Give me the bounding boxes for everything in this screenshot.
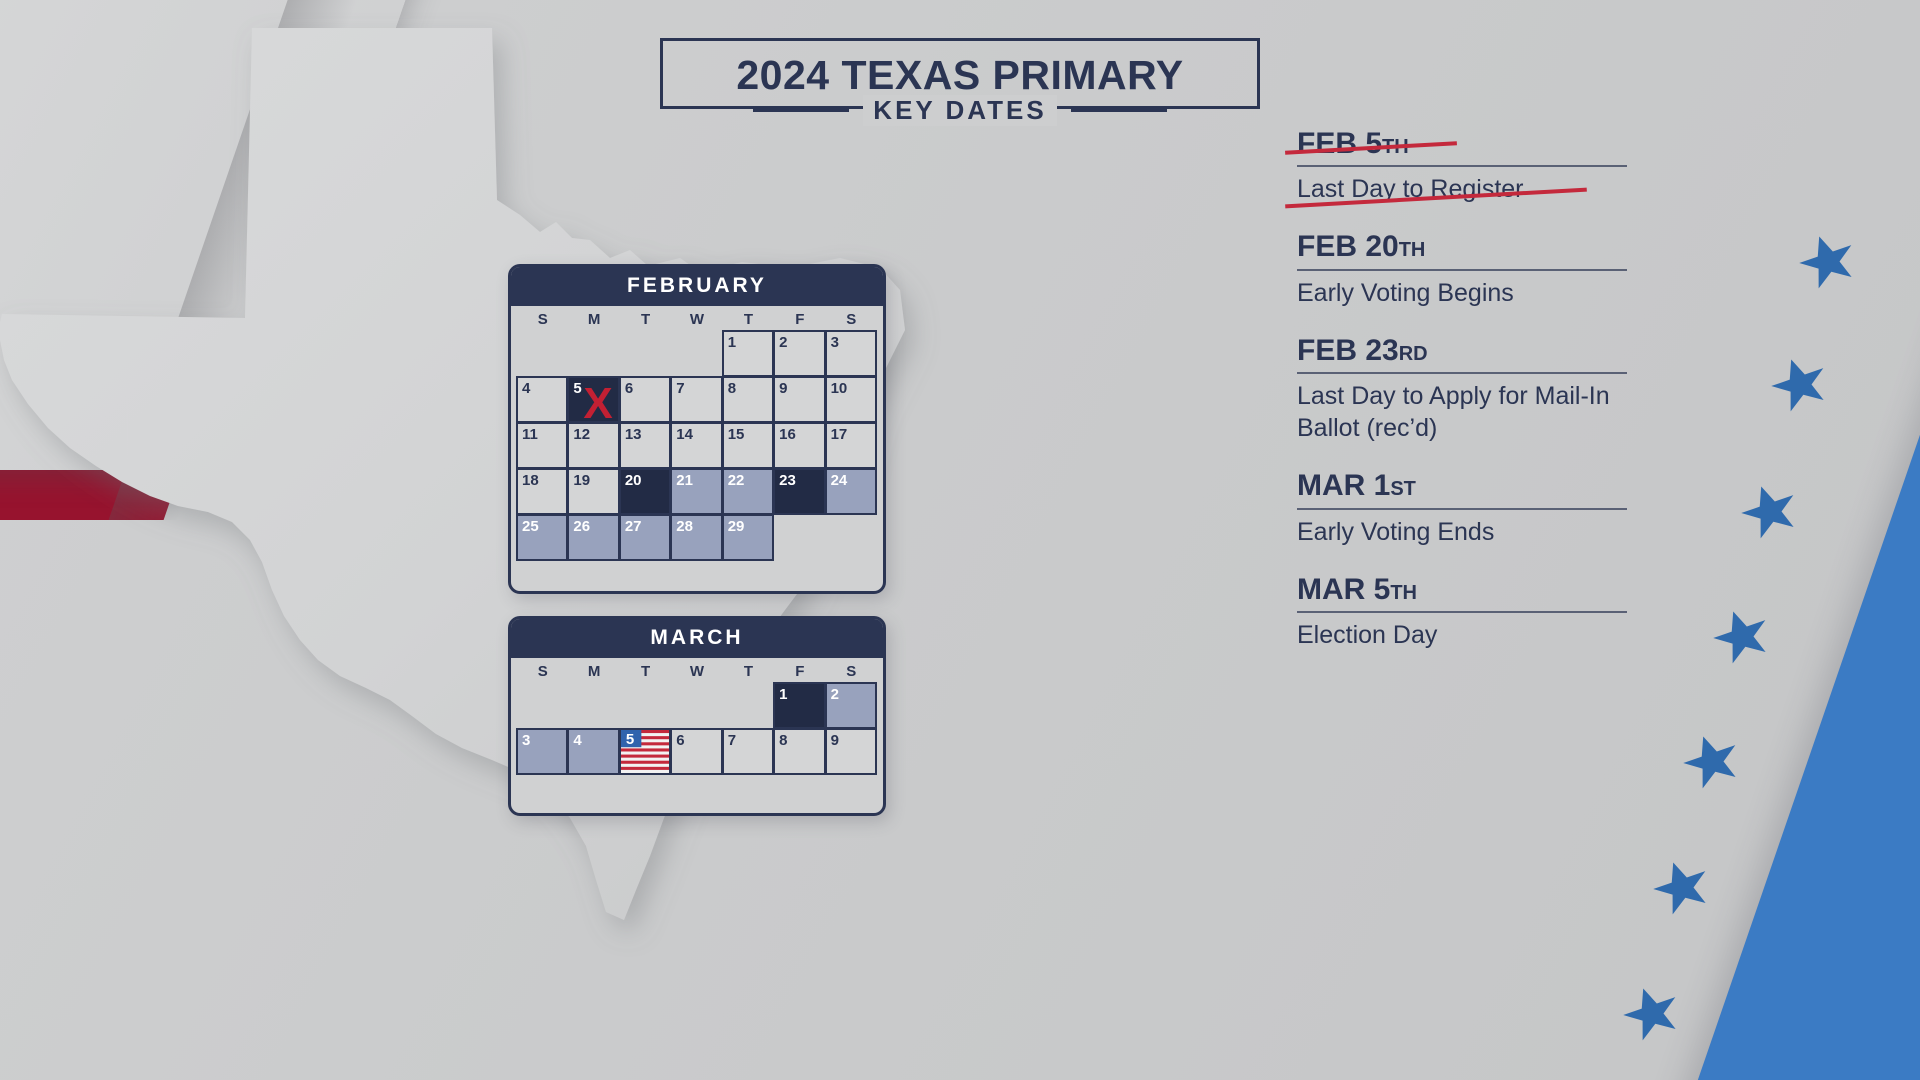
calendar-day-number: 14	[676, 426, 693, 443]
calendar-grid: 123456789	[511, 683, 883, 781]
key-date-description: Early Voting Ends	[1297, 516, 1637, 548]
key-date-divider	[1297, 611, 1627, 613]
calendar-day-number: 9	[779, 380, 787, 397]
calendar-cell-empty	[670, 330, 722, 377]
key-date-entry[interactable]: FEB 23RDLast Day to Apply for Mail-In Ba…	[1297, 335, 1637, 444]
calendar-day-cell[interactable]: 17	[825, 422, 877, 469]
subtitle-rule-right	[1071, 109, 1167, 112]
day-of-week-label: T	[620, 663, 671, 680]
calendar-day-cell[interactable]: 3	[825, 330, 877, 377]
calendar-day-cell[interactable]: 4	[516, 376, 568, 423]
page-subtitle: KEY DATES	[863, 95, 1056, 126]
key-date-divider	[1297, 165, 1627, 167]
key-date-main: FEB 20	[1297, 230, 1399, 263]
calendar-day-cell[interactable]: 9	[773, 376, 825, 423]
day-of-week-row: SMTWTFS	[511, 658, 883, 683]
calendar-month-header: MARCH	[511, 619, 883, 658]
calendar-cell-empty	[619, 330, 671, 377]
day-of-week-label: M	[568, 663, 619, 680]
calendar-day-cell[interactable]: 10	[825, 376, 877, 423]
calendar-day-cell[interactable]: 16	[773, 422, 825, 469]
calendar-day-number: 27	[625, 518, 642, 535]
calendar-cell-empty	[567, 682, 619, 729]
day-of-week-label: W	[671, 311, 722, 328]
calendar-day-cell[interactable]: 12	[567, 422, 619, 469]
key-date-description: Early Voting Begins	[1297, 277, 1637, 309]
calendar-day-cell[interactable]: 29	[722, 514, 774, 561]
calendar-day-cell[interactable]: 1	[722, 330, 774, 377]
day-of-week-label: S	[826, 663, 877, 680]
key-date-header: FEB 5TH	[1297, 128, 1637, 160]
calendar-cell-empty	[516, 330, 568, 377]
calendar-day-cell[interactable]: 7	[670, 376, 722, 423]
calendar-day-cell[interactable]: 6	[670, 728, 722, 775]
calendar-day-number: 16	[779, 426, 796, 443]
calendar-day-number: 23	[779, 472, 796, 489]
calendar-day-number: 12	[573, 426, 590, 443]
key-date-divider	[1297, 269, 1627, 271]
day-of-week-label: M	[568, 311, 619, 328]
calendar-day-cell[interactable]: 22	[722, 468, 774, 515]
calendar-day-cell[interactable]: 8	[773, 728, 825, 775]
calendar-day-cell[interactable]: 1	[773, 682, 825, 729]
calendar-day-number: 1	[728, 334, 736, 351]
day-of-week-label: T	[723, 311, 774, 328]
calendar-day-cell[interactable]: 14	[670, 422, 722, 469]
calendar-day-number: 5	[573, 380, 581, 397]
key-date-header: FEB 23RD	[1297, 335, 1637, 367]
calendar-day-number: 5	[626, 731, 634, 748]
key-dates-list: FEB 5THLast Day to RegisterFEB 20THEarly…	[1297, 128, 1637, 677]
calendar-day-number: 6	[676, 732, 684, 749]
calendar-day-cell[interactable]: 24	[825, 468, 877, 515]
calendar-day-number: 29	[728, 518, 745, 535]
day-of-week-label: T	[723, 663, 774, 680]
calendar-day-number: 15	[728, 426, 745, 443]
day-of-week-label: T	[620, 311, 671, 328]
calendar-day-cell[interactable]: 23	[773, 468, 825, 515]
calendar-day-number: 20	[625, 472, 642, 489]
blue-diagonal-right	[1629, 0, 1920, 1080]
day-of-week-row: SMTWTFS	[511, 306, 883, 331]
key-date-suffix: TH	[1390, 582, 1417, 604]
calendar-day-number: 11	[522, 426, 538, 443]
calendar-day-cell[interactable]: 18	[516, 468, 568, 515]
calendar-day-number: 21	[676, 472, 693, 489]
calendar-day-number: 7	[676, 380, 684, 397]
title-box: 2024 TEXAS PRIMARY KEY DATES	[660, 38, 1260, 109]
calendar-day-number: 1	[779, 686, 787, 703]
calendar-cell-empty	[619, 682, 671, 729]
day-of-week-label: S	[826, 311, 877, 328]
calendar-day-number: 2	[831, 686, 839, 703]
subtitle-rule-left	[753, 109, 849, 112]
key-date-main: FEB 23	[1297, 334, 1399, 367]
calendar-day-cell[interactable]: 7	[722, 728, 774, 775]
title-block: 2024 TEXAS PRIMARY KEY DATES	[660, 38, 1260, 109]
calendar-day-cell[interactable]: 20	[619, 468, 671, 515]
key-date-suffix: RD	[1399, 343, 1428, 365]
day-of-week-label: F	[774, 311, 825, 328]
calendar-day-number: 24	[831, 472, 848, 489]
calendar-day-cell[interactable]: 4	[567, 728, 619, 775]
calendar-day-number: 4	[522, 380, 530, 397]
calendar-day-cell[interactable]: 26	[567, 514, 619, 561]
calendar-grid: 12345X6789101112131415161718192021222324…	[511, 331, 883, 567]
calendar-day-number: 4	[573, 732, 581, 749]
march-calendar: MARCHSMTWTFS123456789	[508, 616, 886, 816]
calendar-day-cell[interactable]: 15	[722, 422, 774, 469]
calendar-day-number: 18	[522, 472, 539, 489]
calendar-day-cell[interactable]: 13	[619, 422, 671, 469]
calendar-day-cell[interactable]: 6	[619, 376, 671, 423]
calendar-day-cell[interactable]: 28	[670, 514, 722, 561]
calendar-day-cell[interactable]: 27	[619, 514, 671, 561]
day-of-week-label: S	[517, 663, 568, 680]
key-date-header: FEB 20TH	[1297, 231, 1637, 263]
page-title: 2024 TEXAS PRIMARY	[689, 55, 1231, 96]
calendar-day-cell[interactable]: 2	[773, 330, 825, 377]
calendar-cell-empty	[722, 682, 774, 729]
calendar-day-number: 25	[522, 518, 539, 535]
calendar-cell-empty	[516, 682, 568, 729]
key-date-entry[interactable]: MAR 1STEarly Voting Ends	[1297, 470, 1637, 547]
key-date-divider	[1297, 372, 1627, 374]
key-date-suffix: TH	[1399, 239, 1426, 261]
calendar-day-number: 10	[831, 380, 848, 397]
calendar-day-number: 13	[625, 426, 642, 443]
x-mark-icon: X	[583, 382, 612, 426]
calendar-day-cell[interactable]: 25	[516, 514, 568, 561]
calendar-day-cell[interactable]: 19	[567, 468, 619, 515]
calendar-cell-empty	[567, 330, 619, 377]
calendar-day-number: 17	[831, 426, 848, 443]
calendar-day-number: 28	[676, 518, 693, 535]
calendar-day-cell[interactable]: 8	[722, 376, 774, 423]
calendar-day-number: 3	[522, 732, 530, 749]
key-date-main: FEB 5	[1297, 127, 1382, 160]
key-date-description: Election Day	[1297, 619, 1637, 651]
calendar-day-cell[interactable]: 9	[825, 728, 877, 775]
calendar-day-cell[interactable]: 3	[516, 728, 568, 775]
red-diagonal-right	[1779, 0, 1920, 1080]
subtitle-row: KEY DATES	[663, 95, 1257, 126]
day-of-week-label: F	[774, 663, 825, 680]
graphic-canvas: 2024 TEXAS PRIMARY KEY DATES FEBRUARYSMT…	[0, 0, 1920, 1080]
calendar-day-number: 6	[625, 380, 633, 397]
calendar-day-number: 2	[779, 334, 787, 351]
key-date-header: MAR 1ST	[1297, 470, 1637, 502]
february-calendar: FEBRUARYSMTWTFS12345X6789101112131415161…	[508, 264, 886, 594]
calendar-day-number: 22	[728, 472, 745, 489]
calendar-day-cell[interactable]: 21	[670, 468, 722, 515]
calendar-cell-empty	[670, 682, 722, 729]
key-date-main: MAR 1	[1297, 469, 1390, 502]
calendar-day-number: 9	[831, 732, 839, 749]
key-date-header: MAR 5TH	[1297, 574, 1637, 606]
key-date-divider	[1297, 508, 1627, 510]
key-date-entry[interactable]: FEB 20THEarly Voting Begins	[1297, 231, 1637, 308]
calendar-day-number: 19	[573, 472, 590, 489]
key-date-main: MAR 5	[1297, 573, 1390, 606]
key-date-entry[interactable]: FEB 5THLast Day to Register	[1297, 128, 1637, 205]
key-date-description: Last Day to Apply for Mail-In Ballot (re…	[1297, 380, 1637, 444]
calendar-day-number: 7	[728, 732, 736, 749]
calendar-day-cell[interactable]: 2	[825, 682, 877, 729]
calendar-day-number: 26	[573, 518, 590, 535]
key-date-suffix: ST	[1390, 478, 1416, 500]
calendar-day-cell[interactable]: 5	[619, 728, 671, 775]
calendar-day-cell[interactable]: 5X	[567, 376, 619, 423]
calendar-day-cell[interactable]: 11	[516, 422, 568, 469]
key-date-entry[interactable]: MAR 5THElection Day	[1297, 574, 1637, 651]
calendar-day-number: 8	[779, 732, 787, 749]
day-of-week-label: S	[517, 311, 568, 328]
calendar-day-number: 3	[831, 334, 839, 351]
calendar-day-number: 8	[728, 380, 736, 397]
day-of-week-label: W	[671, 663, 722, 680]
calendar-month-header: FEBRUARY	[511, 267, 883, 306]
